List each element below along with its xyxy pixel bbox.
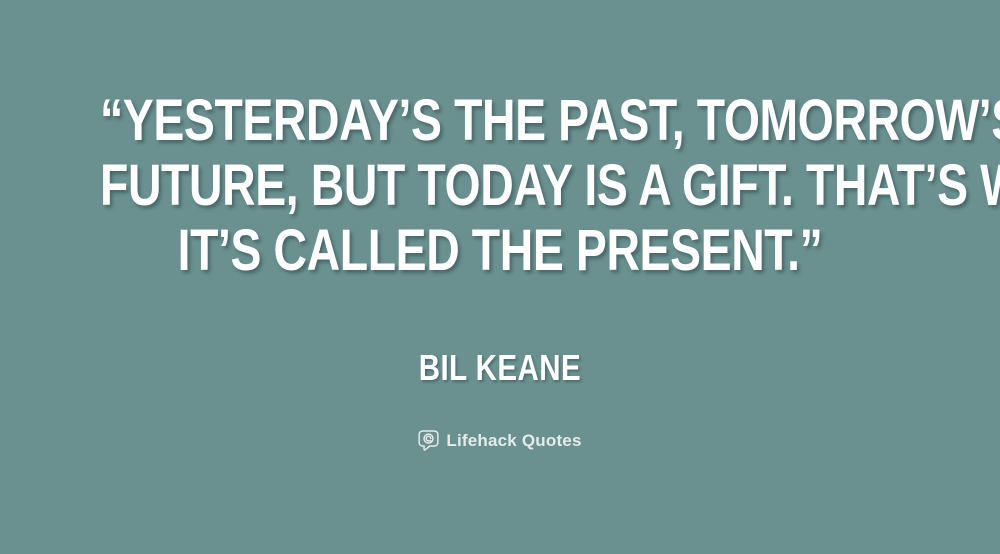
quote-line: FUTURE, BUT TODAY IS A GIFT. THAT’S WHY: [100, 153, 900, 218]
brand-name: Lifehack Quotes: [446, 430, 581, 451]
quote-card: “YESTERDAY’S THE PAST, TOMORROW’S THE FU…: [0, 0, 1000, 554]
quote-text: “YESTERDAY’S THE PAST, TOMORROW’S THE FU…: [0, 88, 1000, 283]
quote-line: IT’S CALLED THE PRESENT.”: [100, 218, 900, 283]
brand-footer: Lifehack Quotes: [0, 430, 1000, 451]
lifehack-logo-icon: [418, 430, 439, 451]
quote-author: BIL KEANE: [0, 348, 1000, 388]
author-name: BIL KEANE: [419, 348, 581, 388]
quote-line: “YESTERDAY’S THE PAST, TOMORROW’S THE: [100, 88, 900, 153]
